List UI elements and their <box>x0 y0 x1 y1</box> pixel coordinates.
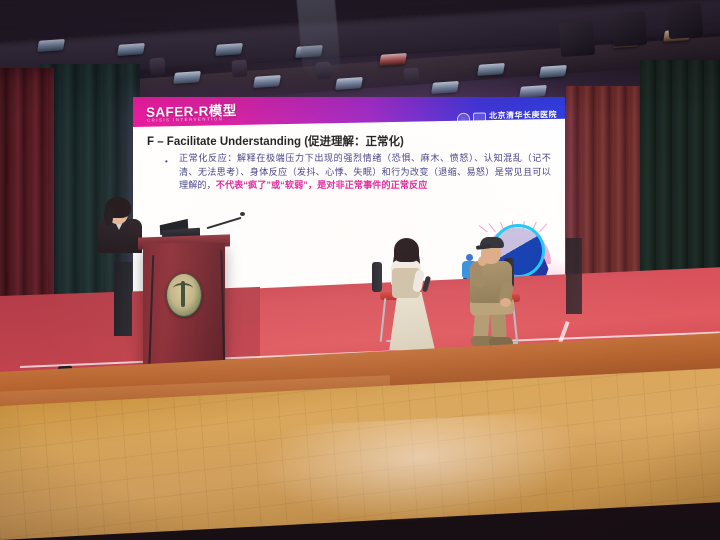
stage-light-icon <box>173 71 201 84</box>
stage-light-icon <box>335 77 363 90</box>
light-housing-icon <box>231 59 247 77</box>
stage-light-icon <box>37 39 65 52</box>
slide-body-highlight: 不代表“疯了”或“软弱”，是对非正常事件的正常反应 <box>216 180 428 190</box>
light-housing-icon <box>403 67 419 85</box>
light-housing-icon <box>149 57 165 75</box>
stage-light-icon <box>215 43 243 56</box>
auditorium-stage-photo: SAFER-R模型 CRISIS INTERVENTION 北京清华长庚医院 B… <box>0 0 720 540</box>
logo-name-en: Beijing Tsinghua Changgung Hospital <box>489 120 557 125</box>
seal-round-icon <box>457 113 470 126</box>
stage-speaker-left <box>114 262 132 336</box>
ceiling-speaker-icon <box>559 21 595 57</box>
stage-light-icon <box>431 81 459 94</box>
stage-light-icon <box>253 75 281 88</box>
seal-square-icon <box>473 112 486 125</box>
ceiling-speaker-icon <box>611 11 647 47</box>
stage-light-icon <box>379 53 407 66</box>
microphone-capsule-icon <box>240 212 245 216</box>
slide-body-text: 正常化反应：解释在极端压力下出现的强烈情绪（恐惧、麻木、愤怒）、认知混乱（记不清… <box>179 152 551 193</box>
stage-light-icon <box>539 65 567 78</box>
ceiling-speaker-icon <box>667 3 703 39</box>
stage-light-icon <box>117 43 145 56</box>
bullet-marker: • <box>165 157 168 166</box>
hospital-logo: 北京清华长庚医院 Beijing Tsinghua Changgung Hosp… <box>457 111 557 126</box>
stage-light-icon <box>477 63 505 76</box>
hospital-emblem-icon <box>166 273 202 317</box>
projector-icon <box>296 0 341 81</box>
slide-heading: F – Facilitate Understanding (促进理解：正常化) <box>147 133 404 149</box>
stage-speaker-right <box>566 238 582 314</box>
floor-reflection <box>230 407 650 540</box>
